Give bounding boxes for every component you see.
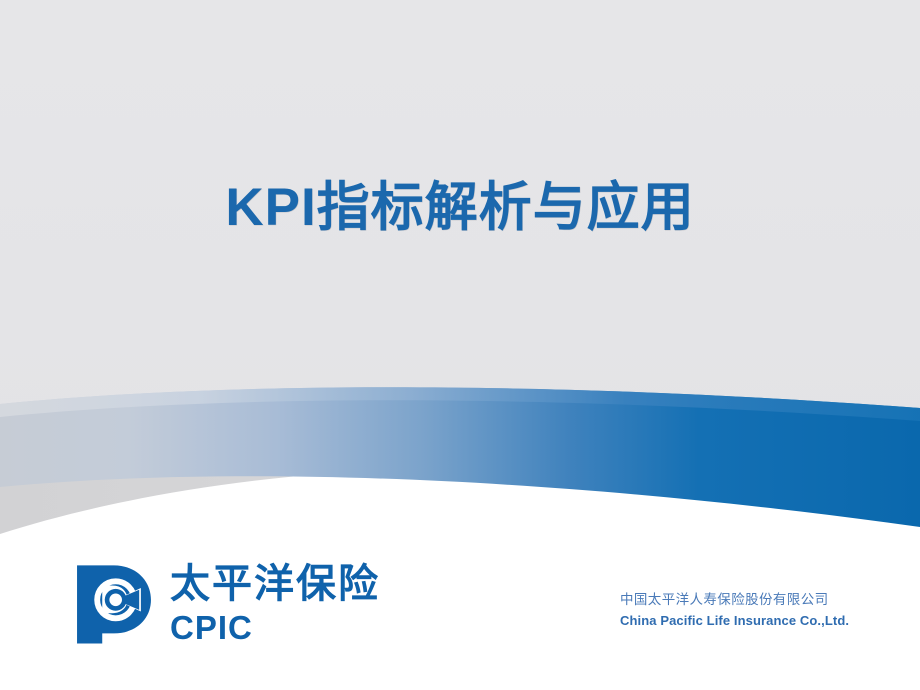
logo-wordmark: 太平洋保险 CPIC (170, 562, 380, 644)
presentation-slide: KPI指标解析与应用 太平洋保险 CPIC 中国太平洋人寿保险股份有限公司 Ch… (0, 0, 920, 690)
corporate-name-block: 中国太平洋人寿保险股份有限公司 China Pacific Life Insur… (620, 590, 849, 630)
logo-brand-cn: 太平洋保险 (170, 564, 380, 604)
logo-brand-en: CPIC (170, 611, 380, 644)
page-title: KPI指标解析与应用 (0, 177, 920, 240)
cpic-logo: 太平洋保险 CPIC (72, 562, 380, 646)
corporate-name-cn: 中国太平洋人寿保险股份有限公司 (620, 590, 849, 610)
cpic-p-c-monogram-icon (72, 562, 156, 646)
corporate-name-en: China Pacific Life Insurance Co.,Ltd. (620, 612, 849, 631)
